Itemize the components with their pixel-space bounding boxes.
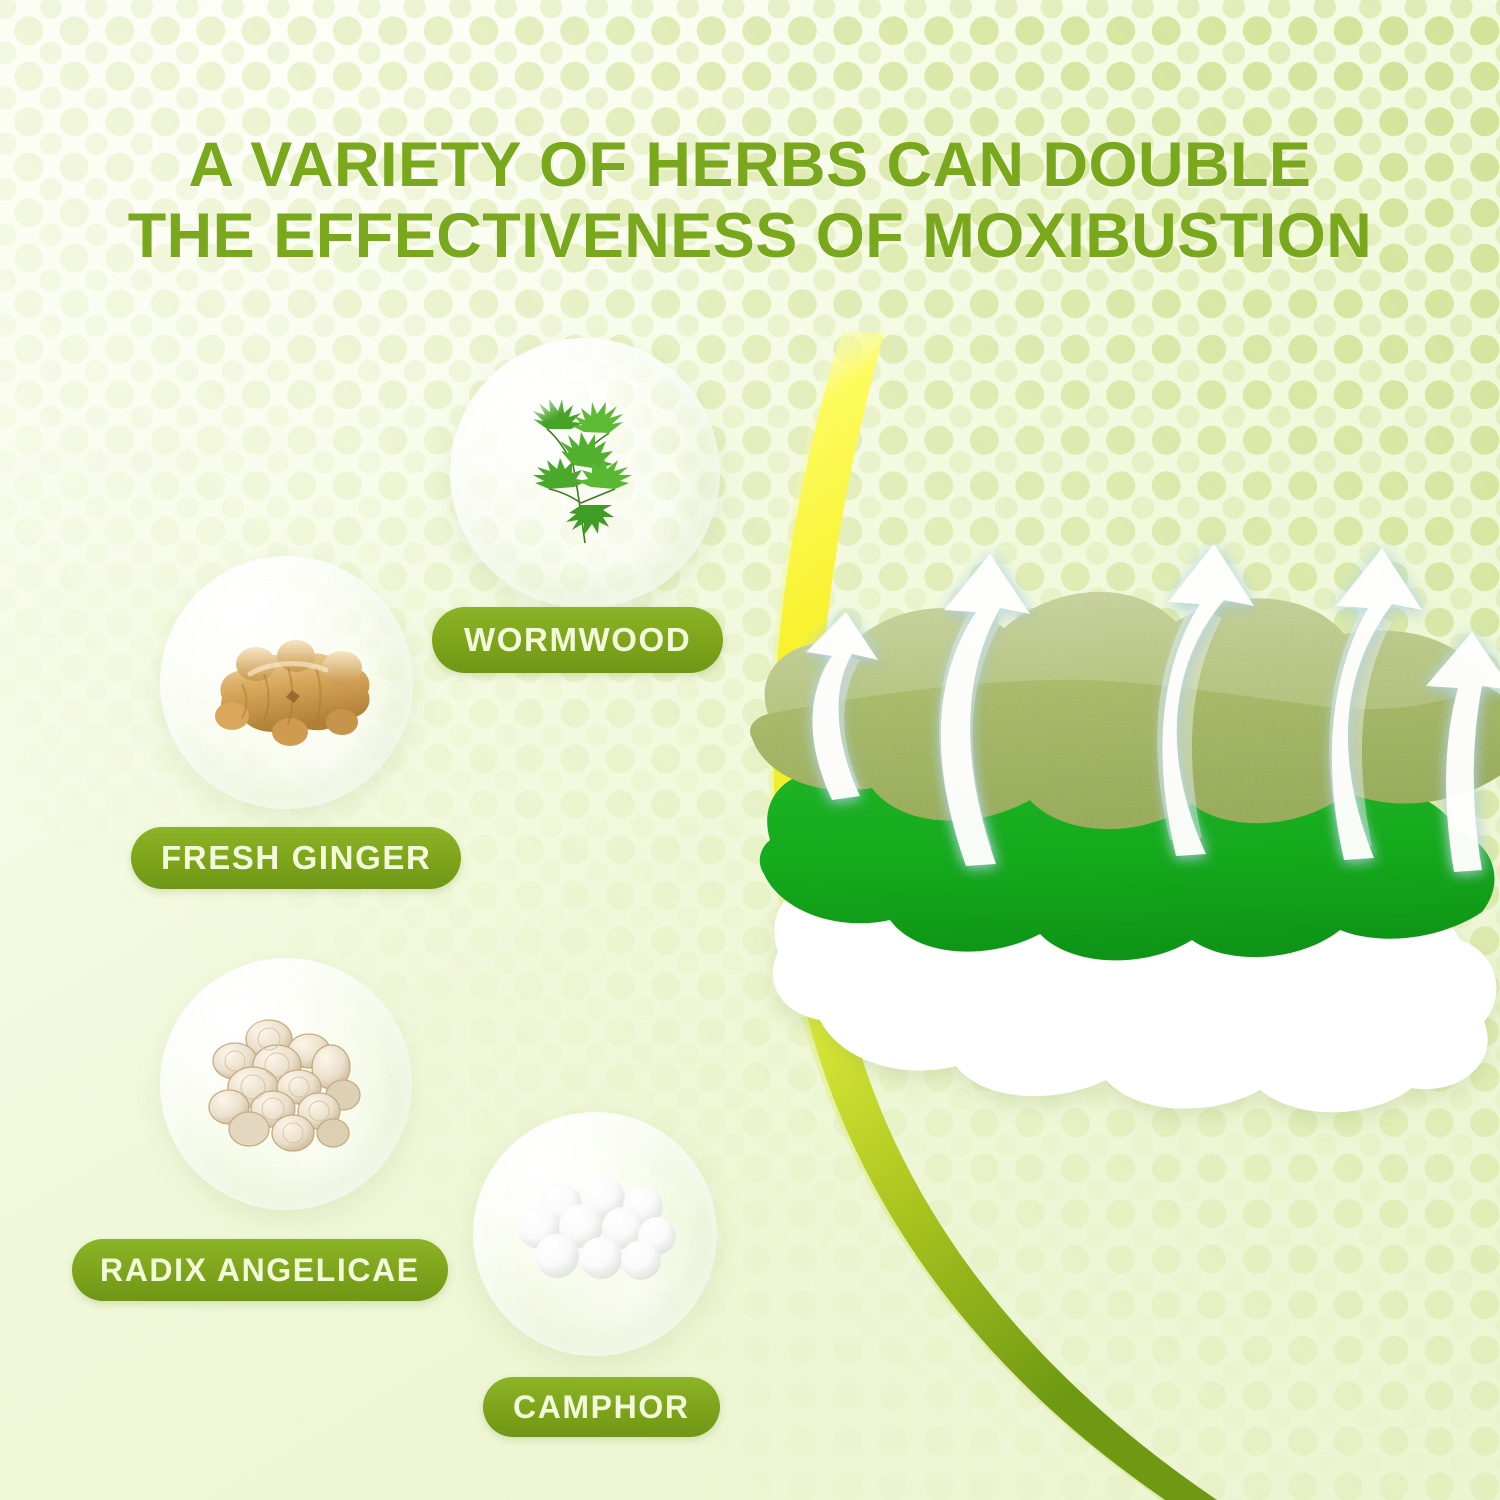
title-line-1: A VARIETY OF HERBS CAN DOUBLE	[189, 130, 1312, 200]
badge-label-radix-angelicae: RADIX ANGELICAE	[100, 1252, 420, 1289]
badge-label-wormwood: WORMWOOD	[464, 621, 691, 659]
angelica-root-slices-icon	[160, 958, 412, 1210]
ginger-root-icon	[160, 556, 413, 809]
ingredient-bubble-fresh-ginger[interactable]	[160, 556, 413, 809]
camphor-balls-icon	[473, 1112, 717, 1356]
badge-label-camphor: CAMPHOR	[513, 1389, 690, 1426]
ingredient-bubble-radix-angelicae[interactable]	[160, 958, 412, 1210]
badge-camphor[interactable]: CAMPHOR	[483, 1377, 720, 1437]
infographic-canvas: A VARIETY OF HERBS CAN DOUBLE THE EFFECT…	[0, 0, 1500, 1500]
wormwood-sprig-icon	[450, 338, 720, 608]
moxibustion-patch-cross-section	[740, 500, 1500, 1160]
title-line-2: THE EFFECTIVENESS OF MOXIBUSTION	[0, 201, 1500, 272]
badge-radix-angelicae[interactable]: RADIX ANGELICAE	[72, 1239, 448, 1301]
badge-wormwood[interactable]: WORMWOOD	[432, 607, 723, 673]
badge-label-fresh-ginger: FRESH GINGER	[161, 839, 431, 877]
badge-fresh-ginger[interactable]: FRESH GINGER	[131, 827, 461, 889]
page-title: A VARIETY OF HERBS CAN DOUBLE THE EFFECT…	[0, 130, 1500, 271]
ingredient-bubble-camphor[interactable]	[473, 1112, 717, 1356]
ingredient-bubble-wormwood[interactable]	[450, 338, 720, 608]
